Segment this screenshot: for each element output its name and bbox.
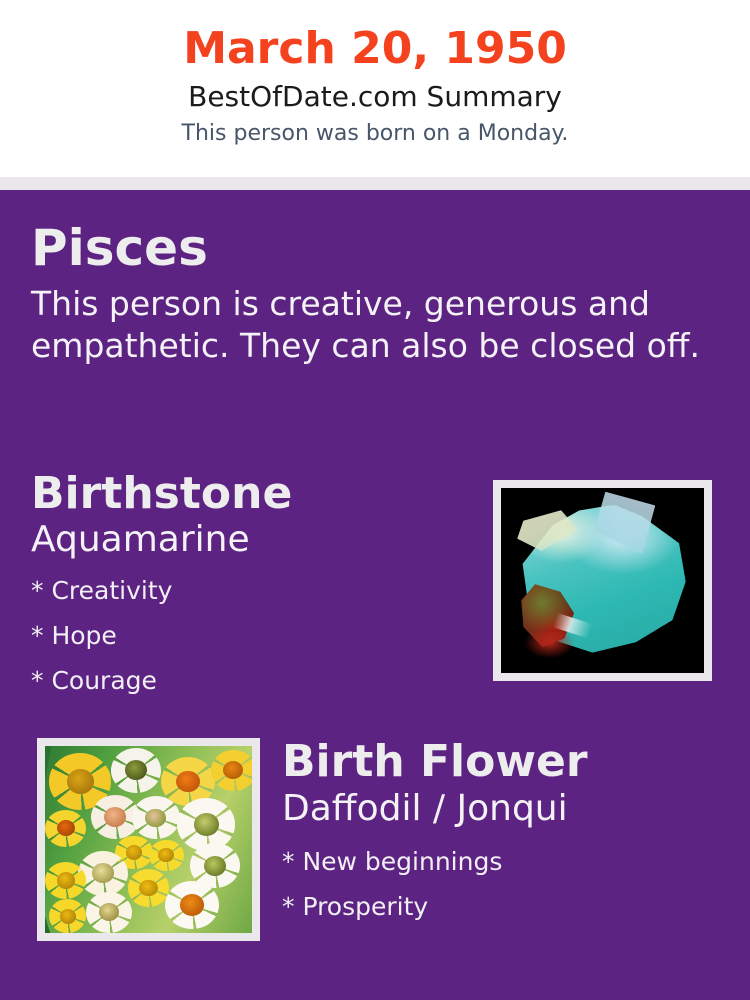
flower-bloom bbox=[128, 869, 169, 906]
zodiac-description: This person is creative, generous and em… bbox=[31, 283, 701, 367]
list-item: * Courage bbox=[31, 658, 471, 703]
list-item: * Creativity bbox=[31, 568, 471, 613]
birthflower-name: Daffodil / Jonqui bbox=[282, 787, 732, 831]
flower-bloom bbox=[45, 810, 86, 847]
flower-bloom bbox=[111, 748, 161, 793]
header: March 20, 1950 BestOfDate.com Summary Th… bbox=[0, 0, 750, 177]
birthflower-trait-list: * New beginnings * Prosperity bbox=[282, 839, 732, 929]
flower-bloom bbox=[78, 851, 128, 896]
list-item: * Prosperity bbox=[282, 884, 732, 929]
summary-card: March 20, 1950 BestOfDate.com Summary Th… bbox=[0, 0, 750, 1000]
site-name: BestOfDate.com Summary bbox=[0, 78, 750, 116]
birthstone-image bbox=[501, 488, 704, 673]
aquamarine-crystal-icon bbox=[501, 488, 704, 673]
list-item: * Hope bbox=[31, 613, 471, 658]
birthstone-section: Birthstone Aquamarine * Creativity * Hop… bbox=[31, 468, 471, 703]
page-title: March 20, 1950 bbox=[0, 22, 750, 76]
flower-bloom bbox=[211, 750, 252, 791]
list-item: * New beginnings bbox=[282, 839, 732, 884]
content-panel: Pisces This person is creative, generous… bbox=[0, 190, 750, 1000]
birthflower-image-frame bbox=[37, 738, 260, 941]
flower-bloom bbox=[149, 840, 184, 872]
birth-day-note: This person was born on a Monday. bbox=[0, 119, 750, 149]
flower-bloom bbox=[86, 892, 132, 933]
birthstone-image-frame bbox=[493, 480, 712, 681]
daffodil-flowers-icon bbox=[45, 746, 252, 933]
birthstone-heading: Birthstone bbox=[31, 468, 471, 520]
zodiac-section: Pisces This person is creative, generous… bbox=[31, 219, 721, 367]
birthstone-trait-list: * Creativity * Hope * Courage bbox=[31, 568, 471, 703]
flower-bloom bbox=[165, 881, 219, 930]
crystal-matrix bbox=[525, 632, 574, 658]
flower-bloom bbox=[132, 796, 180, 839]
birthstone-name: Aquamarine bbox=[31, 518, 471, 562]
birthflower-image bbox=[45, 746, 252, 933]
zodiac-sign-heading: Pisces bbox=[31, 219, 721, 277]
flower-bloom bbox=[177, 798, 235, 850]
header-divider bbox=[0, 177, 750, 190]
birthflower-heading: Birth Flower bbox=[282, 735, 732, 789]
birthflower-section: Birth Flower Daffodil / Jonqui * New beg… bbox=[282, 735, 732, 929]
